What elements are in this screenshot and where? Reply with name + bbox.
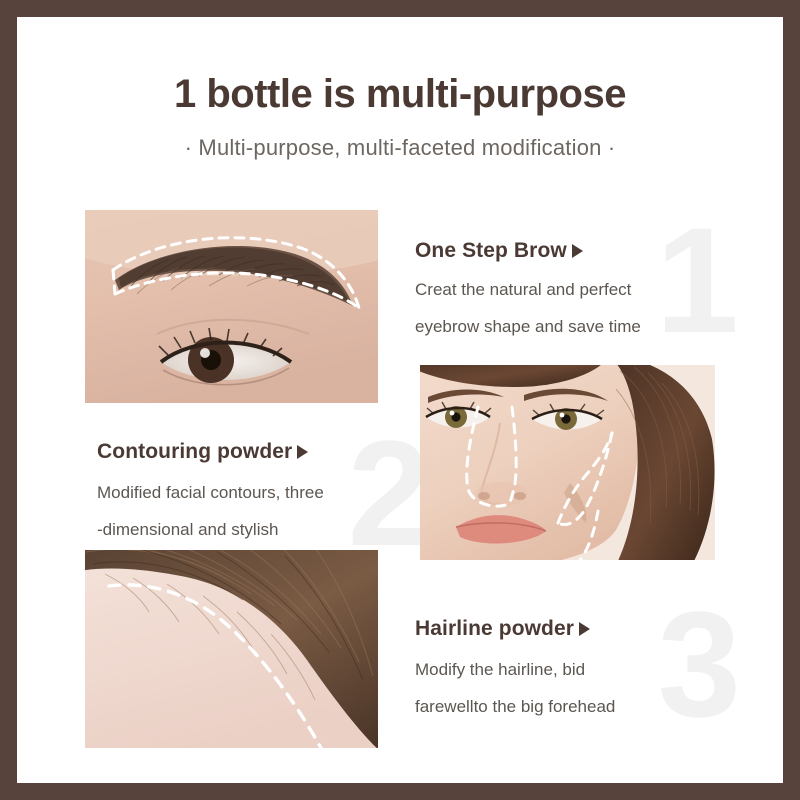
feature-1-line-2: eyebrow shape and save time xyxy=(415,318,745,337)
arrow-right-icon xyxy=(579,622,590,636)
page-subtitle: · Multi-purpose, multi-faceted modificat… xyxy=(17,135,783,161)
photo-face-contour xyxy=(420,365,715,560)
hairline-photo-art xyxy=(85,550,378,748)
feature-2-heading: Contouring powder xyxy=(97,440,427,464)
feature-2-line-1: Modified facial contours, three xyxy=(97,484,427,503)
feature-3-line-2: farewellto the big forehead xyxy=(415,698,745,717)
feature-3-line-1: Modify the hairline, bid xyxy=(415,661,745,680)
page-title: 1 bottle is multi-purpose xyxy=(17,72,783,116)
feature-1-heading-label: One Step Brow xyxy=(415,239,567,263)
feature-1-line-1: Creat the natural and perfect xyxy=(415,281,745,300)
photo-eyebrow xyxy=(85,210,378,403)
feature-2-heading-label: Contouring powder xyxy=(97,440,292,464)
feature-block-1: 1 One Step Brow Creat the natural and pe… xyxy=(415,217,745,347)
poster-canvas: 1 bottle is multi-purpose · Multi-purpos… xyxy=(17,17,783,783)
feature-block-3: 3 Hairline powder Modify the hairline, b… xyxy=(415,597,745,727)
feature-1-heading: One Step Brow xyxy=(415,239,745,263)
photo-hairline xyxy=(85,550,378,748)
feature-2-line-2: -dimensional and stylish xyxy=(97,521,427,540)
feature-block-2: 2 Contouring powder Modified facial cont… xyxy=(97,422,427,552)
face-contour-photo-art xyxy=(420,365,715,560)
poster-frame: 1 bottle is multi-purpose · Multi-purpos… xyxy=(0,0,800,800)
arrow-right-icon xyxy=(297,445,308,459)
eyebrow-photo-art xyxy=(85,210,378,403)
feature-3-heading-label: Hairline powder xyxy=(415,617,574,641)
feature-3-heading: Hairline powder xyxy=(415,617,745,641)
arrow-right-icon xyxy=(572,244,583,258)
